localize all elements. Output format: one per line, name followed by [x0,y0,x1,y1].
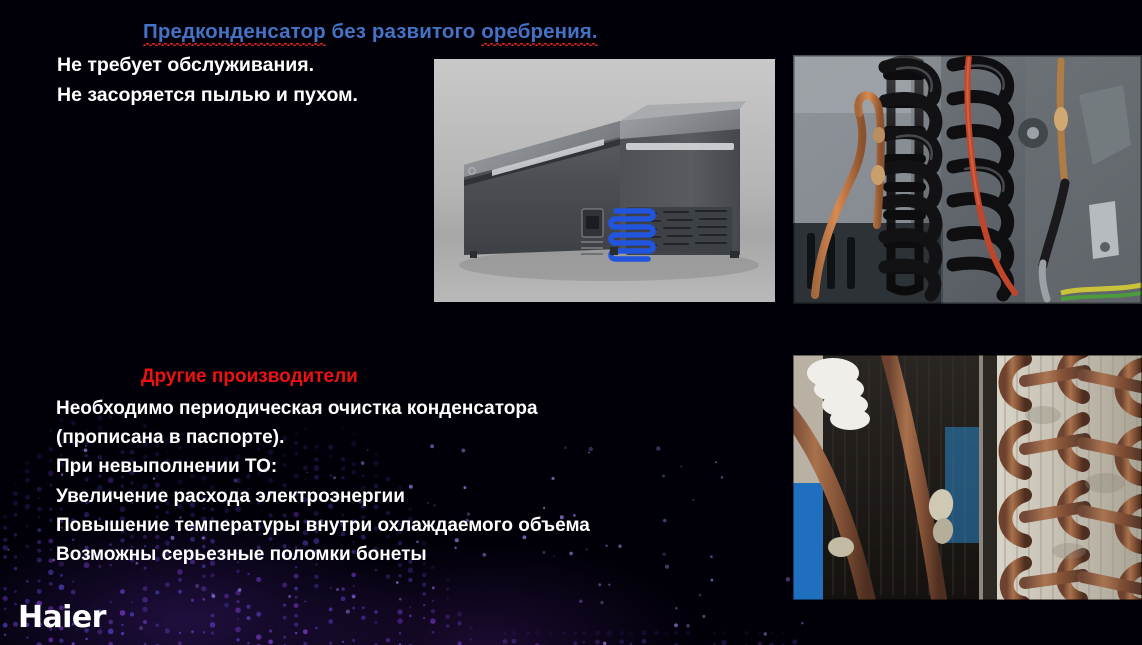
bottom-line-4: Увеличение расхода электроэнергии [56,482,590,511]
refrigerated-cabinet-image [434,59,775,302]
dirty-condenser-coil-image [793,355,1142,600]
top-text-block: Не требует обслуживания. Не засоряется п… [57,50,358,110]
slide-canvas: Предконденсатор без развитого оребрения.… [0,0,1142,645]
haier-logo: Haier [18,600,106,635]
bottom-line-1: Необходимо периодическая очистка конденс… [56,394,590,423]
page-title: Предконденсатор без развитого оребрения. [143,20,598,44]
bottom-line-6: Возможны серьезные поломки бонеты [56,540,590,569]
top-line-1: Не требует обслуживания. [57,50,358,80]
bottom-line-5: Повышение температуры внутри охлаждаемог… [56,511,590,540]
bottom-line-3: При невыполнении ТО: [56,452,590,481]
title-word-precondenser: Предконденсатор [143,20,326,43]
clean-condenser-coil-image [793,55,1142,304]
other-manufacturers-heading: Другие производители [141,366,358,388]
title-word-finning: оребрения. [481,20,597,43]
bottom-line-2: (прописана в паспорте). [56,423,590,452]
bottom-text-block: Необходимо периодическая очистка конденс… [56,394,590,569]
top-line-2: Не засоряется пылью и пухом. [57,80,358,110]
title-middle: без развитого [326,20,482,43]
